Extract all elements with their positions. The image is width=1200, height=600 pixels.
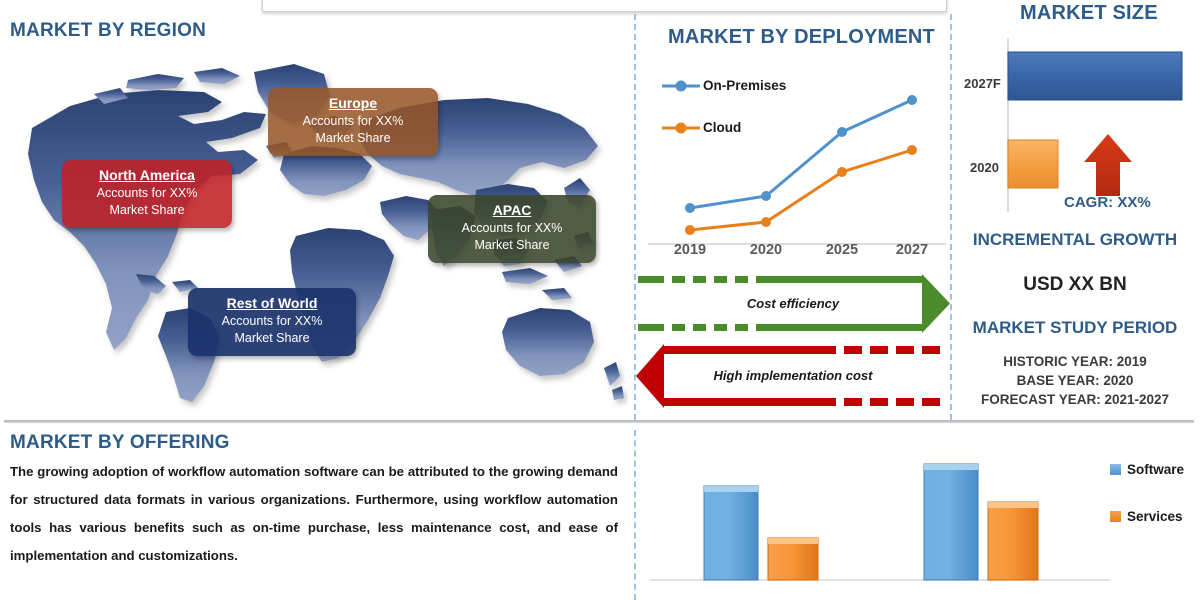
region-line1: Accounts for XX%	[462, 221, 563, 235]
offering-bar-chart	[650, 450, 1110, 596]
horizontal-divider	[4, 420, 1194, 423]
market-by-offering-title: MARKET BY OFFERING	[10, 432, 230, 454]
market-by-offering-body: The growing adoption of workflow automat…	[10, 458, 618, 570]
incremental-growth-value: USD XX BN	[950, 274, 1200, 296]
cost-efficiency-label: Cost efficiency	[636, 296, 950, 311]
market-size-title: MARKET SIZE	[1020, 2, 1158, 25]
legend-label-on-premises: On-Premises	[703, 78, 786, 93]
region-line2: Market Share	[315, 131, 390, 145]
legend-swatch-services-icon	[1110, 511, 1121, 522]
region-line1: Accounts for XX%	[222, 314, 323, 328]
x-tick-2025: 2025	[826, 242, 858, 258]
legend-label-cloud: Cloud	[703, 120, 741, 135]
market-study-period-list: HISTORIC YEAR: 2019 BASE YEAR: 2020 FORE…	[950, 352, 1200, 409]
x-tick-2027: 2027	[896, 242, 928, 258]
region-callout-apac[interactable]: APAC Accounts for XX% Market Share	[428, 195, 596, 263]
legend-label-software: Software	[1127, 462, 1184, 477]
market-by-region-title: MARKET BY REGION	[10, 20, 206, 42]
legend-item-software[interactable]: Software	[1110, 462, 1198, 477]
market-by-deployment-title: MARKET BY DEPLOYMENT	[668, 26, 935, 49]
legend-item-services[interactable]: Services	[1110, 509, 1198, 524]
region-line2: Market Share	[234, 331, 309, 345]
offering-chart-legend: Software Services	[1110, 462, 1198, 556]
base-year: BASE YEAR: 2020	[950, 371, 1200, 390]
region-name: North America	[99, 167, 195, 184]
infographic-canvas: MARKET BY REGION	[0, 0, 1200, 600]
forecast-year: FORECAST YEAR: 2021-2027	[950, 390, 1200, 409]
cost-efficiency-arrow-band: Cost efficiency	[636, 272, 950, 338]
region-line1: Accounts for XX%	[97, 186, 198, 200]
region-line2: Market Share	[109, 203, 184, 217]
high-implementation-cost-label: High implementation cost	[636, 368, 950, 383]
cagr-label: CAGR: XX%	[1064, 194, 1151, 211]
deployment-line-chart	[648, 58, 946, 273]
deployment-x-axis-labels: 2019 2020 2025 2027	[648, 242, 946, 264]
region-name: Europe	[329, 95, 377, 112]
historic-year: HISTORIC YEAR: 2019	[950, 352, 1200, 371]
region-line1: Accounts for XX%	[303, 114, 404, 128]
region-callout-europe[interactable]: Europe Accounts for XX% Market Share	[268, 88, 438, 156]
market-size-bar-chart	[956, 30, 1198, 220]
region-name: APAC	[493, 202, 532, 219]
region-callout-north-america[interactable]: North America Accounts for XX% Market Sh…	[62, 160, 232, 228]
legend-swatch-software-icon	[1110, 464, 1121, 475]
market-size-label-2020: 2020	[970, 160, 999, 175]
high-implementation-cost-arrow-band: High implementation cost	[636, 340, 950, 416]
x-tick-2020: 2020	[750, 242, 782, 258]
vertical-divider-bottom	[634, 430, 636, 600]
region-name: Rest of World	[227, 295, 318, 312]
region-callout-rest-of-world[interactable]: Rest of World Accounts for XX% Market Sh…	[188, 288, 356, 356]
incremental-growth-title: INCREMENTAL GROWTH	[950, 230, 1200, 250]
market-study-period-title: MARKET STUDY PERIOD	[950, 318, 1200, 338]
legend-label-services: Services	[1127, 509, 1183, 524]
x-tick-2019: 2019	[674, 242, 706, 258]
market-size-label-2027: 2027F	[964, 76, 1001, 91]
top-white-card	[262, 0, 947, 12]
region-line2: Market Share	[474, 238, 549, 252]
